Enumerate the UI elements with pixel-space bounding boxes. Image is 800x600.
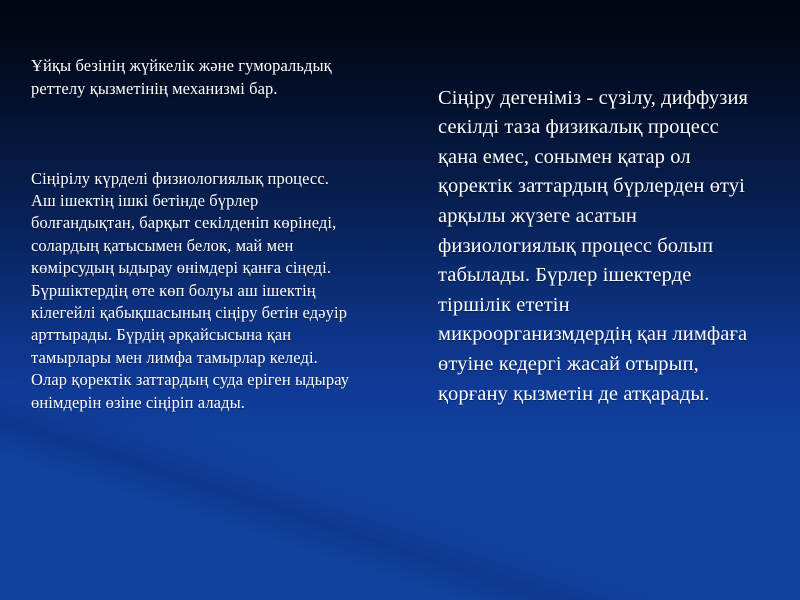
left-paragraph-2: Сіңірілу күрделі физиологиялық процесс. … bbox=[31, 168, 351, 414]
left-paragraph-1: Ұйқы безінің жүйкелік және гуморальдық р… bbox=[31, 55, 351, 100]
left-text-column: Ұйқы безінің жүйкелік және гуморальдық р… bbox=[31, 33, 351, 437]
right-text-column: Сіңіру дегеніміз - сүзілу, диффузия секі… bbox=[438, 54, 756, 439]
presentation-slide: Ұйқы безінің жүйкелік және гуморальдық р… bbox=[0, 0, 800, 600]
right-paragraph-1: Сіңіру дегеніміз - сүзілу, диффузия секі… bbox=[438, 84, 756, 410]
